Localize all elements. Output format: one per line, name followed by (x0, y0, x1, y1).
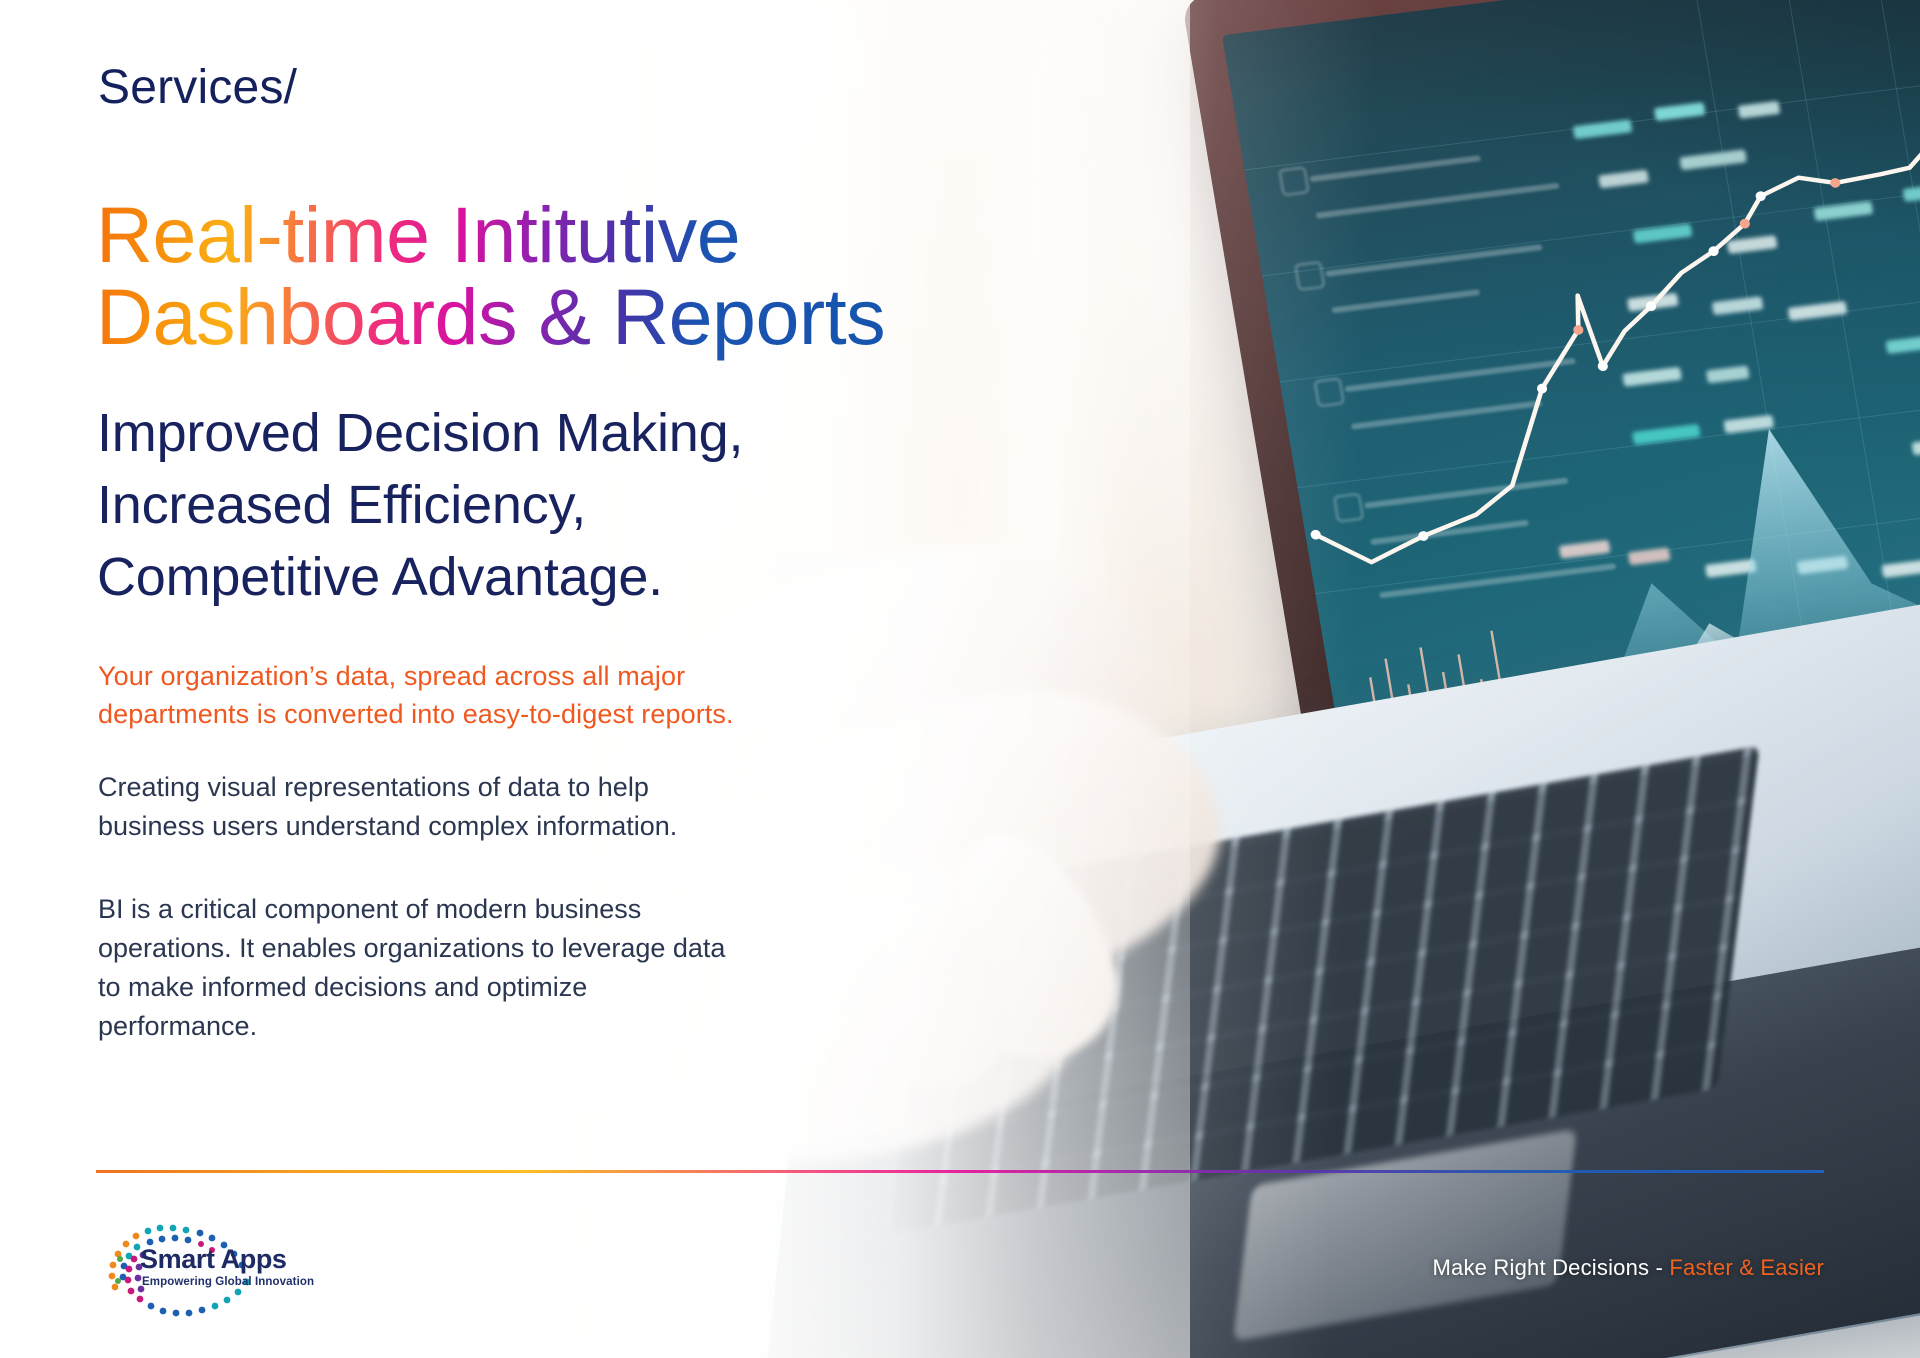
footer-tagline: Make Right Decisions - Faster & Easier (1432, 1255, 1824, 1281)
title-line-1: Real-time Intitutive (96, 190, 740, 279)
logo-tagline: Empowering Global Innovation (142, 1276, 314, 1288)
gradient-divider (96, 1170, 1824, 1173)
slide-canvas: Services/ Real-time Intitutive Dashboard… (0, 0, 1920, 1358)
lede-paragraph: Your organization’s data, spread across … (98, 657, 734, 734)
headline-benefits: Improved Decision Making, Increased Effi… (97, 398, 743, 613)
footer-tagline-plain: Make Right Decisions - (1432, 1255, 1669, 1280)
body-paragraph-2: BI is a critical component of modern bus… (98, 890, 725, 1046)
eyebrow-label: Services/ (98, 60, 297, 115)
title-line-2: Dashboards & Reports (96, 276, 885, 358)
logo-wordmark: Smart Apps (140, 1244, 287, 1275)
slide-content: Services/ Real-time Intitutive Dashboard… (0, 0, 1920, 1358)
page-title: Real-time Intitutive Dashboards & Report… (96, 112, 885, 441)
footer-tagline-accent: Faster & Easier (1669, 1255, 1824, 1280)
body-paragraph-1: Creating visual representations of data … (98, 768, 677, 846)
